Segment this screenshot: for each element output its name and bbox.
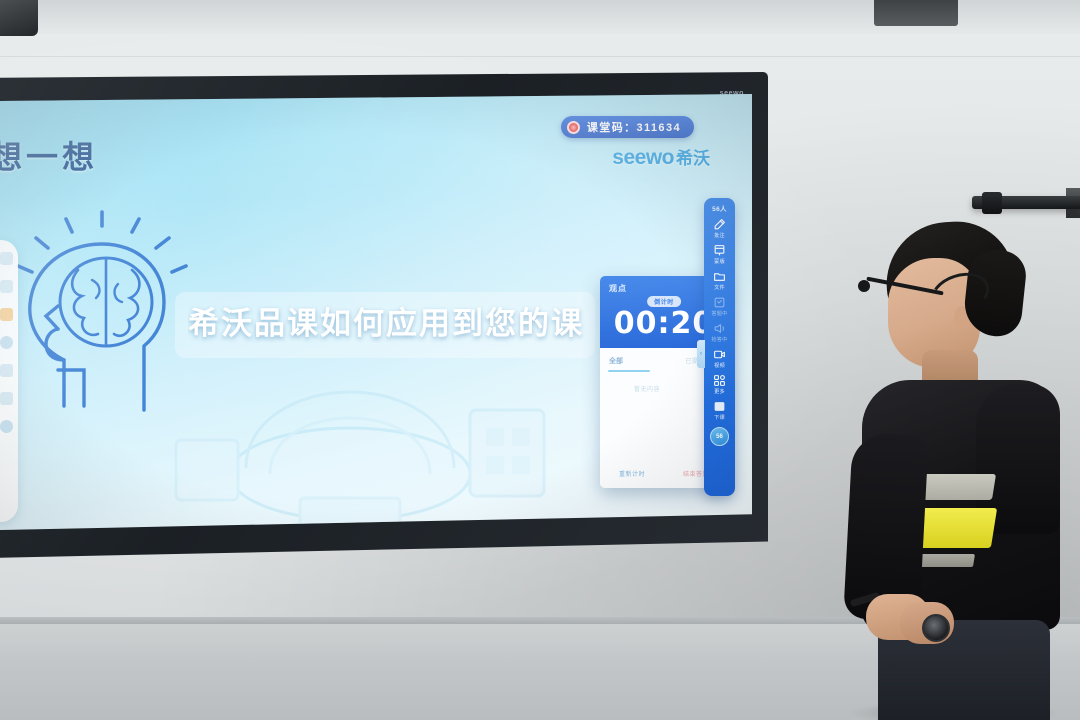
- grid-cell: [608, 416, 643, 422]
- left-tool-dock[interactable]: [0, 240, 18, 522]
- grid-more-icon: [713, 374, 726, 387]
- sidebar-label: 文件: [714, 284, 725, 291]
- sidebar-label: 批注: [714, 232, 725, 239]
- wristwatch-icon: [922, 614, 950, 642]
- sidebar-label: 抢答中: [711, 336, 727, 343]
- dock-item-4[interactable]: [0, 336, 13, 349]
- slide-title: 想一想: [0, 132, 98, 178]
- microphone-icon: [858, 280, 870, 292]
- background-illustration: [150, 356, 590, 530]
- dock-item-2[interactable]: [0, 280, 13, 293]
- folder-icon: [713, 270, 726, 283]
- sidebar-item-annotate[interactable]: 批注: [704, 218, 735, 239]
- grid-cell: [647, 432, 682, 438]
- grid-cell: [608, 432, 643, 438]
- sidebar-item-files[interactable]: 文件: [704, 270, 735, 291]
- class-code-label: 课堂码：311634: [587, 119, 681, 135]
- seewo-logo-cn: 希沃: [676, 149, 710, 168]
- sidebar-label: 蒙版: [714, 258, 725, 265]
- classroom-scene: seewo 想一想: [0, 0, 1080, 720]
- sidebar-label: 答题中: [711, 310, 727, 317]
- grid-cell: [608, 400, 643, 406]
- avatar[interactable]: 56: [710, 427, 729, 446]
- presenter: [826, 222, 1076, 720]
- slide-headline: 希沃品课如何应用到您的课: [188, 298, 586, 343]
- attendance-count: 56人: [712, 203, 727, 213]
- sidebar-item-mask[interactable]: 蒙版: [704, 244, 735, 265]
- class-code-badge[interactable]: 课堂码：311634: [561, 116, 694, 138]
- sidebar-item-end-class[interactable]: 下课: [704, 400, 735, 421]
- panel-empty-text: 暂无内容: [634, 384, 660, 393]
- sidebar-item-more[interactable]: 更多: [704, 374, 735, 395]
- sidebar-item-video[interactable]: 视频: [704, 348, 735, 369]
- pen-icon: [713, 218, 726, 231]
- dock-item-6[interactable]: [0, 392, 13, 405]
- grid-cell: [647, 416, 682, 422]
- restart-timer-button[interactable]: 重新计时: [619, 469, 645, 478]
- board-screen[interactable]: 想一想: [0, 94, 752, 530]
- video-icon: [713, 348, 726, 361]
- buzzer-icon: [713, 322, 726, 335]
- sidebar-label: 视频: [714, 362, 725, 369]
- sidebar-item-answer-card[interactable]: 答题中: [704, 296, 735, 317]
- end-class-icon: [713, 400, 726, 413]
- class-tools-sidebar[interactable]: ‹ 56人 批注 蒙版: [704, 198, 735, 496]
- answer-card-icon: [713, 296, 726, 309]
- seewo-logo: seewo希沃: [612, 144, 710, 170]
- dock-item-1[interactable]: [0, 252, 13, 265]
- dock-item-7[interactable]: [0, 420, 13, 433]
- sidebar-item-buzzer[interactable]: 抢答中: [704, 322, 735, 343]
- collapse-handle-icon[interactable]: ‹: [697, 340, 705, 368]
- seewo-logo-text: seewo: [612, 146, 674, 169]
- dock-item-3[interactable]: [0, 308, 13, 321]
- record-dot-icon: [567, 121, 580, 134]
- panel-title: 观点: [609, 283, 627, 294]
- sidebar-label: 更多: [714, 388, 725, 395]
- grid-cell: [647, 400, 682, 406]
- sidebar-label: 下课: [714, 414, 725, 421]
- dock-item-5[interactable]: [0, 364, 13, 377]
- interactive-whiteboard: seewo 想一想: [0, 72, 768, 558]
- mask-icon: [713, 244, 726, 257]
- panel-tab-all[interactable]: 全部: [609, 356, 623, 366]
- panel-tab-indicator: [608, 370, 650, 372]
